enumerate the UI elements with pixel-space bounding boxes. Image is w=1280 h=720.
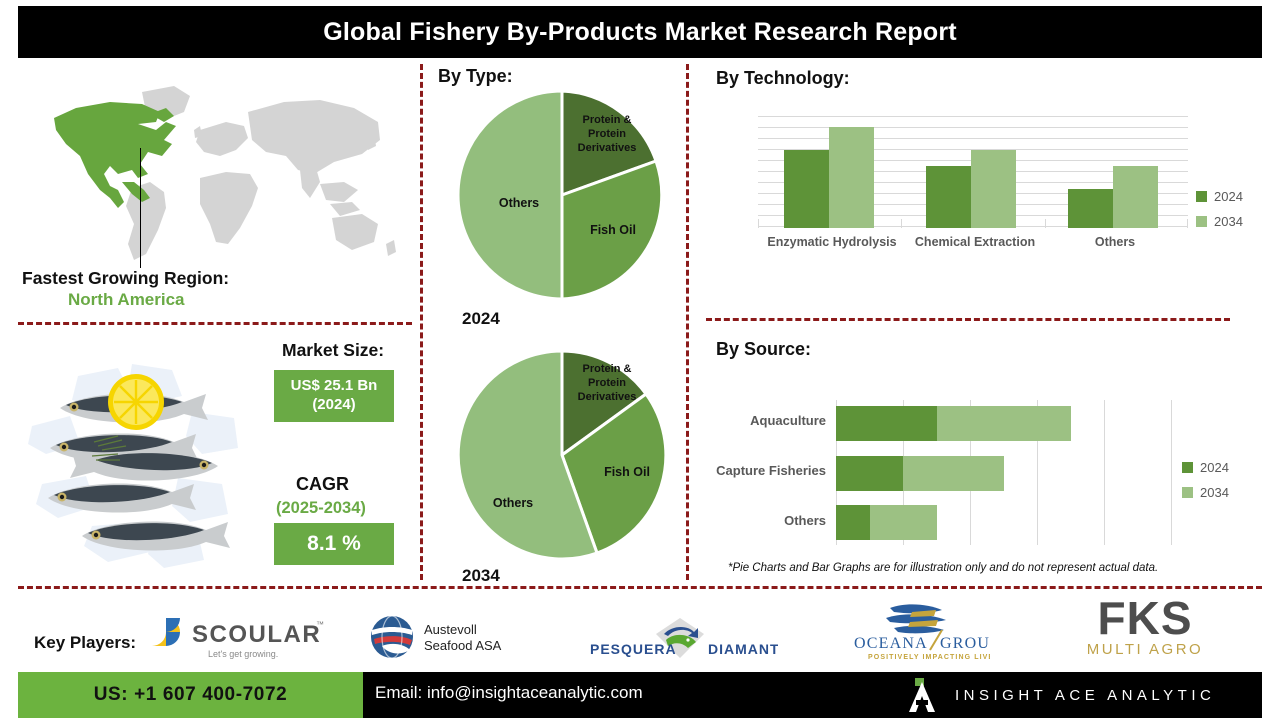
hbar-capture-2024 [836, 456, 903, 491]
logo-pesquera-diamante: PESQUERA DIAMANTE [582, 612, 778, 662]
technology-category-0: Enzymatic Hydrolysis [752, 235, 912, 249]
pie-2024-label-fishoil: Fish Oil [578, 223, 648, 239]
svg-text:Seafood ASA: Seafood ASA [424, 638, 502, 653]
source-legend-label-2034: 2034 [1200, 485, 1229, 500]
hbar-others-2034 [870, 505, 937, 540]
svg-text:Let's get growing.: Let's get growing. [208, 649, 278, 659]
pie-2034-label-protein: Protein & Protein Derivatives [566, 363, 648, 404]
by-source-heading: By Source: [716, 339, 811, 360]
cagr-box: 8.1 % [274, 523, 394, 565]
source-legend-item-2034: 2034 [1182, 485, 1229, 500]
pie-2034-year: 2034 [462, 566, 500, 586]
legend-item-2034: 2034 [1196, 214, 1243, 229]
footer-brand: INSIGHT ACE ANALYTIC [905, 678, 1215, 712]
bar-chemical-2024 [926, 166, 971, 228]
market-size-label: Market Size: [282, 340, 384, 361]
insight-ace-analytic-logo-icon [905, 678, 939, 712]
fastest-growing-region-value: North America [68, 290, 185, 310]
world-map-icon [14, 78, 414, 268]
bar-others-2034 [1113, 166, 1158, 228]
bar-enzymatic-2024 [784, 150, 829, 228]
divider-horizontal-left [18, 322, 412, 325]
market-size-year: (2024) [312, 396, 355, 415]
svg-text:PESQUERA: PESQUERA [590, 641, 677, 657]
page-title: Global Fishery By-Products Market Resear… [323, 18, 957, 47]
scoular-logo-icon: SCOULAR ™ Let's get growing. [152, 612, 328, 664]
cagr-years: (2025-2034) [276, 499, 366, 518]
hbar-capture-2034 [903, 456, 1004, 491]
svg-text:SCOULAR: SCOULAR [192, 621, 321, 648]
svg-text:DIAMANTE: DIAMANTE [708, 641, 778, 657]
cagr-value: 8.1 % [307, 531, 361, 557]
infographic-page: Global Fishery By-Products Market Resear… [0, 0, 1280, 720]
svg-text:FKS: FKS [1098, 592, 1193, 644]
technology-bar-chart [758, 116, 1188, 228]
divider-horizontal-right [706, 318, 1230, 321]
divider-vertical-right [686, 64, 689, 580]
cagr-label: CAGR [296, 474, 349, 495]
market-size-value: US$ 25.1 Bn [291, 377, 378, 396]
pie-2034-label-fishoil: Fish Oil [592, 465, 662, 481]
source-legend-swatch-2034 [1182, 487, 1193, 498]
footer-email: Email: info@insightaceanalytic.com [375, 683, 643, 703]
austevoll-globe-icon: Austevoll Seafood ASA [366, 612, 552, 662]
logo-austevoll: Austevoll Seafood ASA [366, 612, 552, 662]
map-pointer-line [140, 148, 141, 268]
source-row-aquaculture [836, 406, 1172, 441]
hbar-aquaculture-2024 [836, 406, 937, 441]
source-category-0: Aquaculture [666, 413, 826, 428]
bar-enzymatic-2034 [829, 127, 874, 228]
footer-phone: US: +1 607 400-7072 [94, 684, 288, 706]
fastest-growing-region-label: Fastest Growing Region: [22, 268, 229, 289]
svg-text:MULTI AGRO: MULTI AGRO [1087, 641, 1203, 658]
divider-horizontal-bottom [18, 586, 1262, 589]
svg-text:OCEANA: OCEANA [854, 635, 928, 652]
source-legend-item-2024: 2024 [1182, 460, 1229, 475]
footer-brand-name: INSIGHT ACE ANALYTIC [955, 687, 1215, 704]
source-bar-chart [836, 400, 1172, 545]
legend-swatch-2024 [1196, 191, 1207, 202]
logo-oceana-group: OCEANA GROUP POSITIVELY IMPACTING LIVES [850, 600, 990, 662]
legend-item-2024: 2024 [1196, 189, 1243, 204]
technology-category-1: Chemical Extraction [895, 235, 1055, 249]
bar-chemical-2034 [971, 150, 1016, 228]
pie-2024-label-protein: Protein & Protein Derivatives [566, 114, 648, 155]
key-players-label: Key Players: [34, 633, 136, 653]
legend-label-2034: 2034 [1214, 214, 1243, 229]
fks-multi-agro-icon: FKS MULTI AGRO [1060, 592, 1230, 658]
world-map [14, 78, 414, 268]
svg-text:™: ™ [316, 620, 324, 629]
source-row-capture [836, 456, 1172, 491]
bar-others-2024 [1068, 189, 1113, 228]
hbar-others-2024 [836, 505, 870, 540]
oceana-group-icon: OCEANA GROUP POSITIVELY IMPACTING LIVES [850, 600, 990, 662]
divider-vertical-left [420, 64, 423, 580]
pesquera-diamante-icon: PESQUERA DIAMANTE [582, 612, 778, 662]
pie-2024-year: 2024 [462, 309, 500, 329]
chart-footnote: *Pie Charts and Bar Graphs are for illus… [728, 562, 1158, 574]
page-title-bar: Global Fishery By-Products Market Resear… [18, 6, 1262, 58]
source-category-2: Others [666, 513, 826, 528]
technology-category-2: Others [1035, 235, 1195, 249]
svg-text:POSITIVELY IMPACTING LIVES: POSITIVELY IMPACTING LIVES [868, 654, 990, 661]
source-legend-label-2024: 2024 [1200, 460, 1229, 475]
logo-scoular: SCOULAR ™ Let's get growing. [152, 612, 328, 664]
market-size-box: US$ 25.1 Bn (2024) [274, 370, 394, 422]
by-type-heading: By Type: [438, 66, 513, 87]
source-category-1: Capture Fisheries [666, 463, 826, 478]
pie-2024-label-others: Others [484, 196, 554, 212]
fish-illustration [22, 356, 268, 584]
technology-legend: 2024 2034 [1196, 189, 1243, 239]
logo-fks-multi-agro: FKS MULTI AGRO [1060, 592, 1230, 658]
footer-phone-bar: US: +1 607 400-7072 [18, 672, 363, 718]
source-legend: 2024 2034 [1182, 460, 1229, 510]
svg-text:Austevoll: Austevoll [424, 622, 477, 637]
hbar-aquaculture-2034 [937, 406, 1071, 441]
pie-2034-label-others: Others [478, 496, 548, 512]
source-row-others [836, 505, 1172, 540]
source-legend-swatch-2024 [1182, 462, 1193, 473]
legend-label-2024: 2024 [1214, 189, 1243, 204]
by-technology-heading: By Technology: [716, 68, 850, 89]
svg-text:GROUP: GROUP [940, 635, 990, 652]
sardines-on-ice-icon [22, 356, 268, 584]
legend-swatch-2034 [1196, 216, 1207, 227]
